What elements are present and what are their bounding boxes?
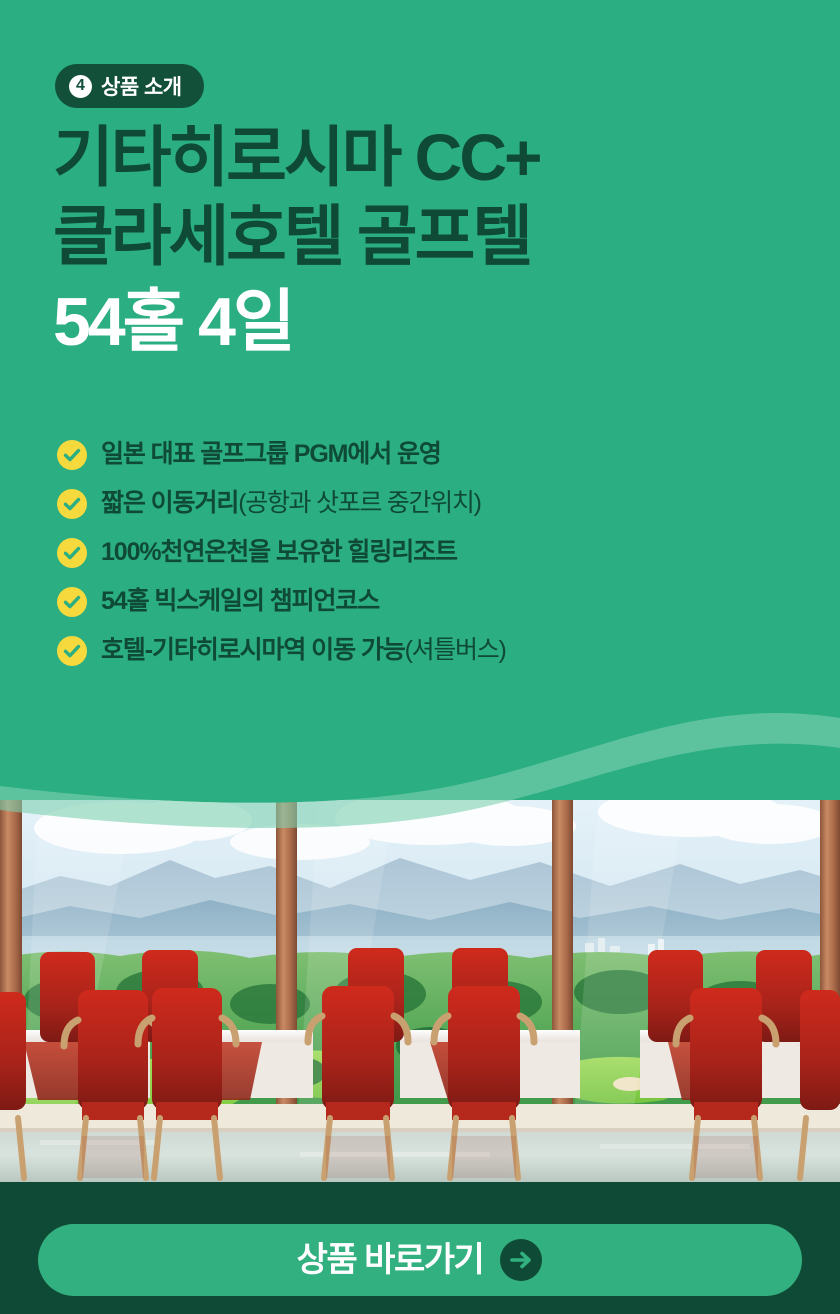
list-item: 호텔-기타히로시마역 이동 가능(셔틀버스)	[57, 626, 817, 675]
list-item-label: 일본 대표 골프그룹 PGM에서 운영	[101, 442, 441, 467]
check-circle-icon	[57, 440, 87, 470]
go-to-product-button[interactable]: 상품 바로가기	[38, 1224, 802, 1296]
intro-section: 4 상품 소개 기타히로시마 CC+ 클라세호텔 골프텔 54홀 4일 일본 대…	[0, 0, 840, 800]
promo-banner: 4 상품 소개 기타히로시마 CC+ 클라세호텔 골프텔 54홀 4일 일본 대…	[0, 0, 840, 1314]
section-badge: 4 상품 소개	[55, 64, 204, 108]
list-item-label: 54홀 빅스케일의 챔피언코스	[101, 589, 379, 614]
list-item-sub: (공항과 삿포르 중간위치)	[238, 489, 480, 517]
check-circle-icon	[57, 489, 87, 519]
check-circle-icon	[57, 587, 87, 617]
headline-line-1: 기타히로시마 CC+	[53, 118, 793, 197]
list-item-label: 100%천연온천을 보유한 힐링리조트	[101, 540, 457, 565]
list-item-label: 짧은 이동거리(공항과 삿포르 중간위치)	[101, 491, 481, 516]
list-item: 일본 대표 골프그룹 PGM에서 운영	[57, 430, 817, 479]
page-title: 기타히로시마 CC+ 클라세호텔 골프텔 54홀 4일	[53, 118, 793, 364]
list-item-main: 일본 대표 골프그룹 PGM에서 운영	[101, 440, 441, 468]
number-circle-icon: 4	[69, 75, 92, 98]
cta-label: 상품 바로가기	[297, 1243, 484, 1277]
check-circle-icon	[57, 636, 87, 666]
list-item-sub: (셔틀버스)	[405, 636, 506, 664]
headline-line-2: 클라세호텔 골프텔	[53, 197, 793, 276]
arrow-right-circle-icon	[499, 1238, 543, 1282]
headline-line-3: 54홀 4일	[53, 282, 793, 364]
feature-list: 일본 대표 골프그룹 PGM에서 운영 짧은 이동거리(공항과 삿포르 중간위치…	[57, 430, 817, 675]
list-item: 100%천연온천을 보유한 힐링리조트	[57, 528, 817, 577]
section-badge-label: 상품 소개	[101, 71, 182, 101]
list-item-label: 호텔-기타히로시마역 이동 가능(셔틀버스)	[101, 638, 505, 663]
list-item-main: 54홀 빅스케일의 챔피언코스	[101, 587, 379, 615]
list-item-main: 100%천연온천을 보유한 힐링리조트	[101, 538, 457, 566]
list-item: 짧은 이동거리(공항과 삿포르 중간위치)	[57, 479, 817, 528]
check-circle-icon	[57, 538, 87, 568]
list-item-main: 짧은 이동거리	[101, 489, 238, 517]
list-item: 54홀 빅스케일의 챔피언코스	[57, 577, 817, 626]
list-item-main: 호텔-기타히로시마역 이동 가능	[101, 636, 405, 664]
